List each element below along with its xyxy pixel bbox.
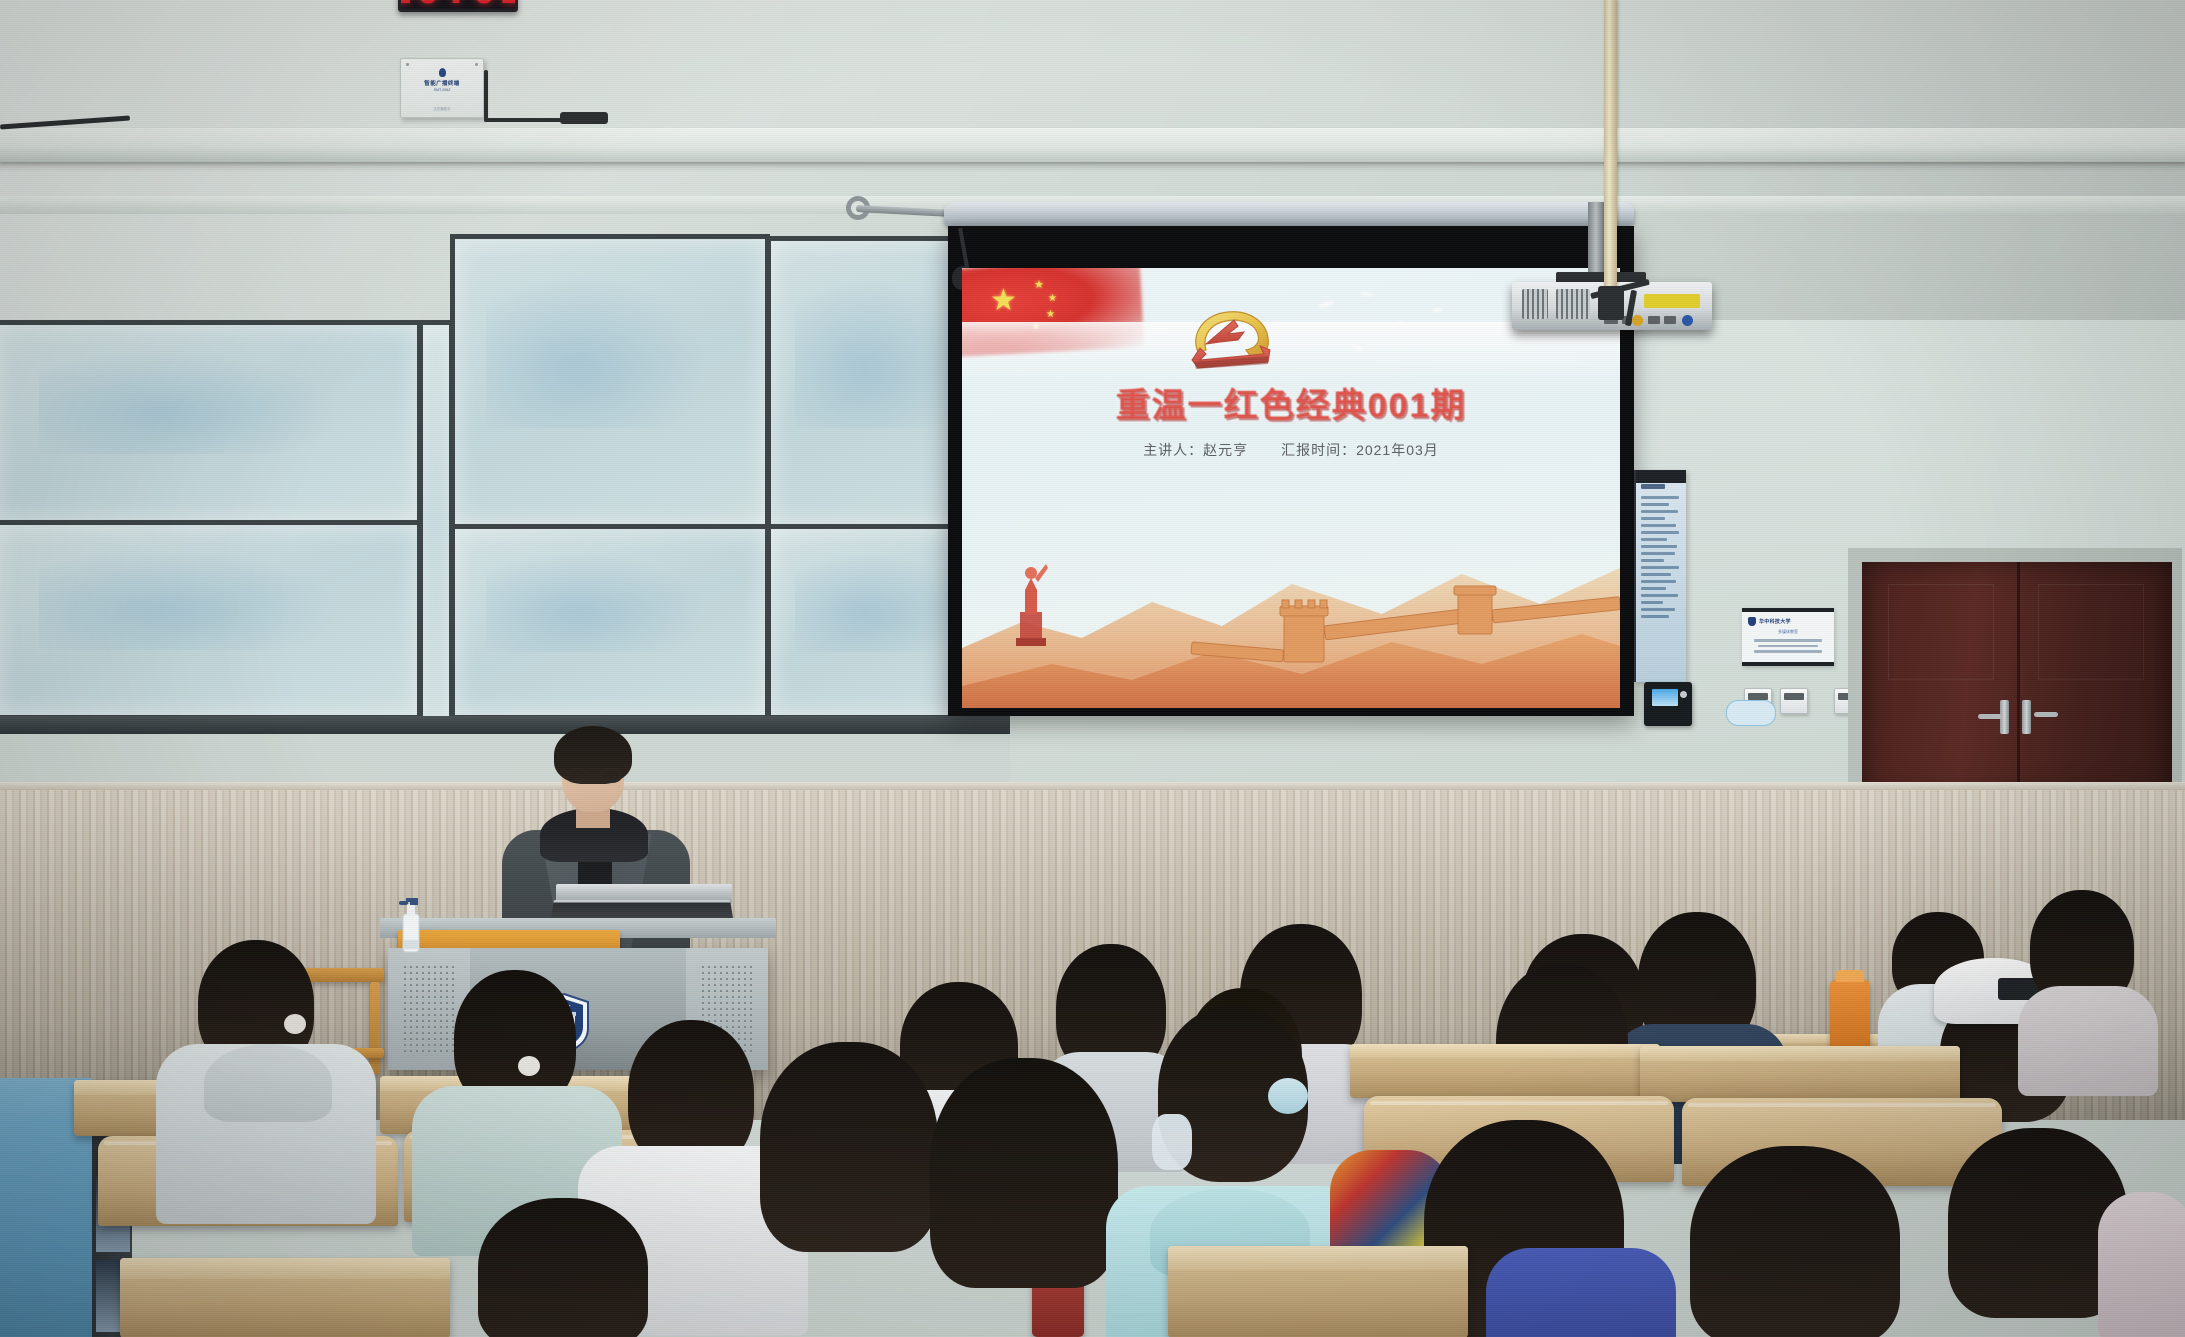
board-mullion — [418, 320, 454, 726]
slide-title: 重温一红色经典001期 — [962, 378, 1620, 427]
board-pane — [450, 234, 770, 530]
flag-star-icon: ★ — [1046, 310, 1055, 320]
wallbox-footer: 正在播放中 — [434, 106, 451, 111]
reader-display — [1652, 689, 1678, 706]
hanging-pole — [1604, 0, 1617, 300]
sign-subtitle: 多媒体教室 — [1748, 629, 1828, 635]
board-bottom-rail — [0, 716, 1016, 734]
brand-logo-icon — [439, 68, 446, 77]
desk — [1168, 1246, 1468, 1337]
beam-shadow — [0, 162, 2185, 172]
ceiling-beam — [0, 128, 2185, 162]
slide-date: 汇报时间：2021年03月 — [1281, 442, 1439, 458]
lecture-hall-photo: 10:02 智能广播终端 SMT-206Z 正在播放中 ★ ★ ★ ★ — [0, 0, 2185, 1337]
cable-adapter — [560, 112, 608, 124]
board-pane — [0, 320, 422, 526]
equipment-info-sign: 华中科技大学 多媒体教室 — [1742, 608, 1834, 666]
lecture-hall-door[interactable] — [1862, 562, 2172, 794]
light-switch[interactable] — [1780, 688, 1808, 714]
safety-sticker — [1726, 700, 1776, 726]
chair-leg — [370, 982, 380, 1074]
board-pane — [0, 520, 422, 720]
dove-icon — [1432, 307, 1443, 312]
wallbox-model: SMT-206Z — [434, 88, 451, 92]
university-badge-icon — [1748, 617, 1756, 626]
dove-icon — [1318, 300, 1335, 310]
projector-label — [1644, 294, 1700, 308]
great-wall-illustration — [962, 518, 1620, 708]
screw-icon — [475, 63, 478, 66]
digital-clock: 10:02 — [398, 0, 518, 12]
monument-statue-icon — [1014, 560, 1048, 646]
classroom-notice-poster — [1634, 470, 1686, 682]
cable — [484, 70, 488, 122]
pole-clamp — [1598, 286, 1624, 320]
reader-led-icon — [1680, 691, 1687, 698]
flag-star-icon: ★ — [1048, 294, 1057, 304]
spray-bottle — [398, 896, 424, 954]
flag-star-icon: ★ — [990, 286, 1017, 316]
wall-board-panels — [0, 320, 1010, 840]
sign-org: 华中科技大学 — [1759, 618, 1791, 625]
slide-subtitle: 主讲人：赵元亨 汇报时间：2021年03月 — [962, 440, 1620, 460]
wall-control-box[interactable]: 智能广播终端 SMT-206Z 正在播放中 — [400, 58, 484, 118]
access-card-reader[interactable] — [1644, 682, 1692, 726]
poster-heading — [1641, 484, 1665, 489]
screen-roller-housing — [944, 202, 1634, 228]
dove-icon — [1360, 291, 1374, 298]
wallbox-brand: 智能广播终端 — [424, 79, 459, 87]
screw-icon — [406, 63, 409, 66]
glasses-icon — [566, 768, 622, 783]
orange-thermos — [1830, 980, 1870, 1052]
cpc-emblem-icon — [1176, 298, 1298, 370]
clock-time: 10:02 — [398, 0, 518, 9]
desk — [120, 1258, 450, 1337]
board-pane — [450, 524, 770, 720]
desk — [1640, 1046, 1960, 1102]
desk — [1350, 1044, 1660, 1098]
slide-presenter: 主讲人：赵元亨 — [1143, 442, 1248, 458]
projection-screen[interactable]: ★ ★ ★ ★ ★ — [962, 268, 1620, 708]
flag-star-icon: ★ — [1034, 280, 1044, 291]
